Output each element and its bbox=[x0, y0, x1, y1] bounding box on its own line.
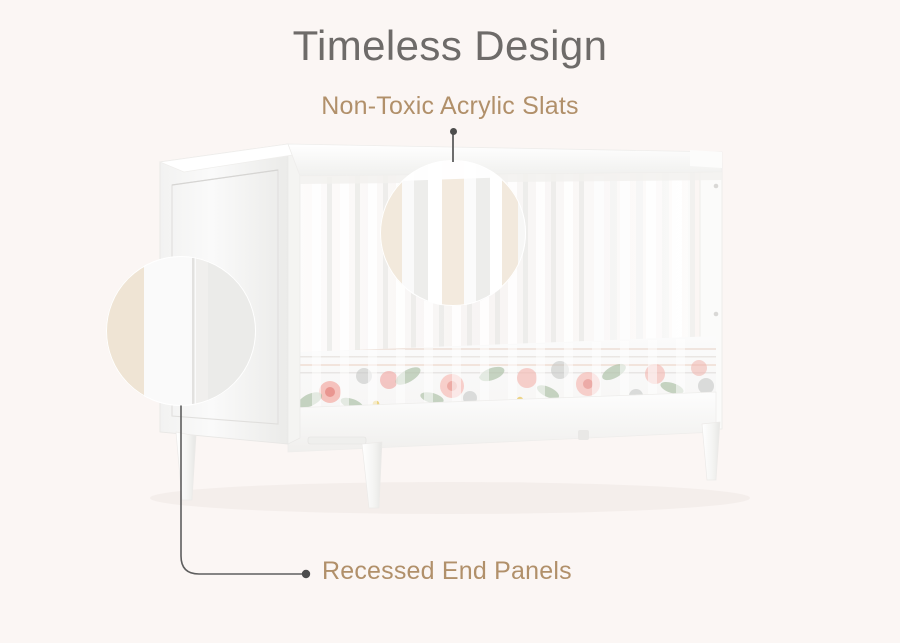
callout-label-recessed-panels: Recessed End Panels bbox=[322, 557, 572, 586]
leg-back-right bbox=[702, 422, 720, 480]
page-title: Timeless Design bbox=[0, 22, 900, 70]
callout-label-acrylic-slats: Non-Toxic Acrylic Slats bbox=[0, 92, 900, 121]
leader-line-acrylic-slats bbox=[452, 134, 454, 162]
screw-head bbox=[714, 184, 719, 189]
brand-plate bbox=[308, 437, 366, 444]
leader-dot-acrylic-slats bbox=[450, 128, 457, 135]
center-support bbox=[578, 430, 589, 440]
product-feature-graphic: Timeless Design Non-Toxic Acrylic Slats … bbox=[0, 0, 900, 643]
screw-head bbox=[714, 312, 719, 317]
floor-shadow bbox=[150, 482, 750, 514]
